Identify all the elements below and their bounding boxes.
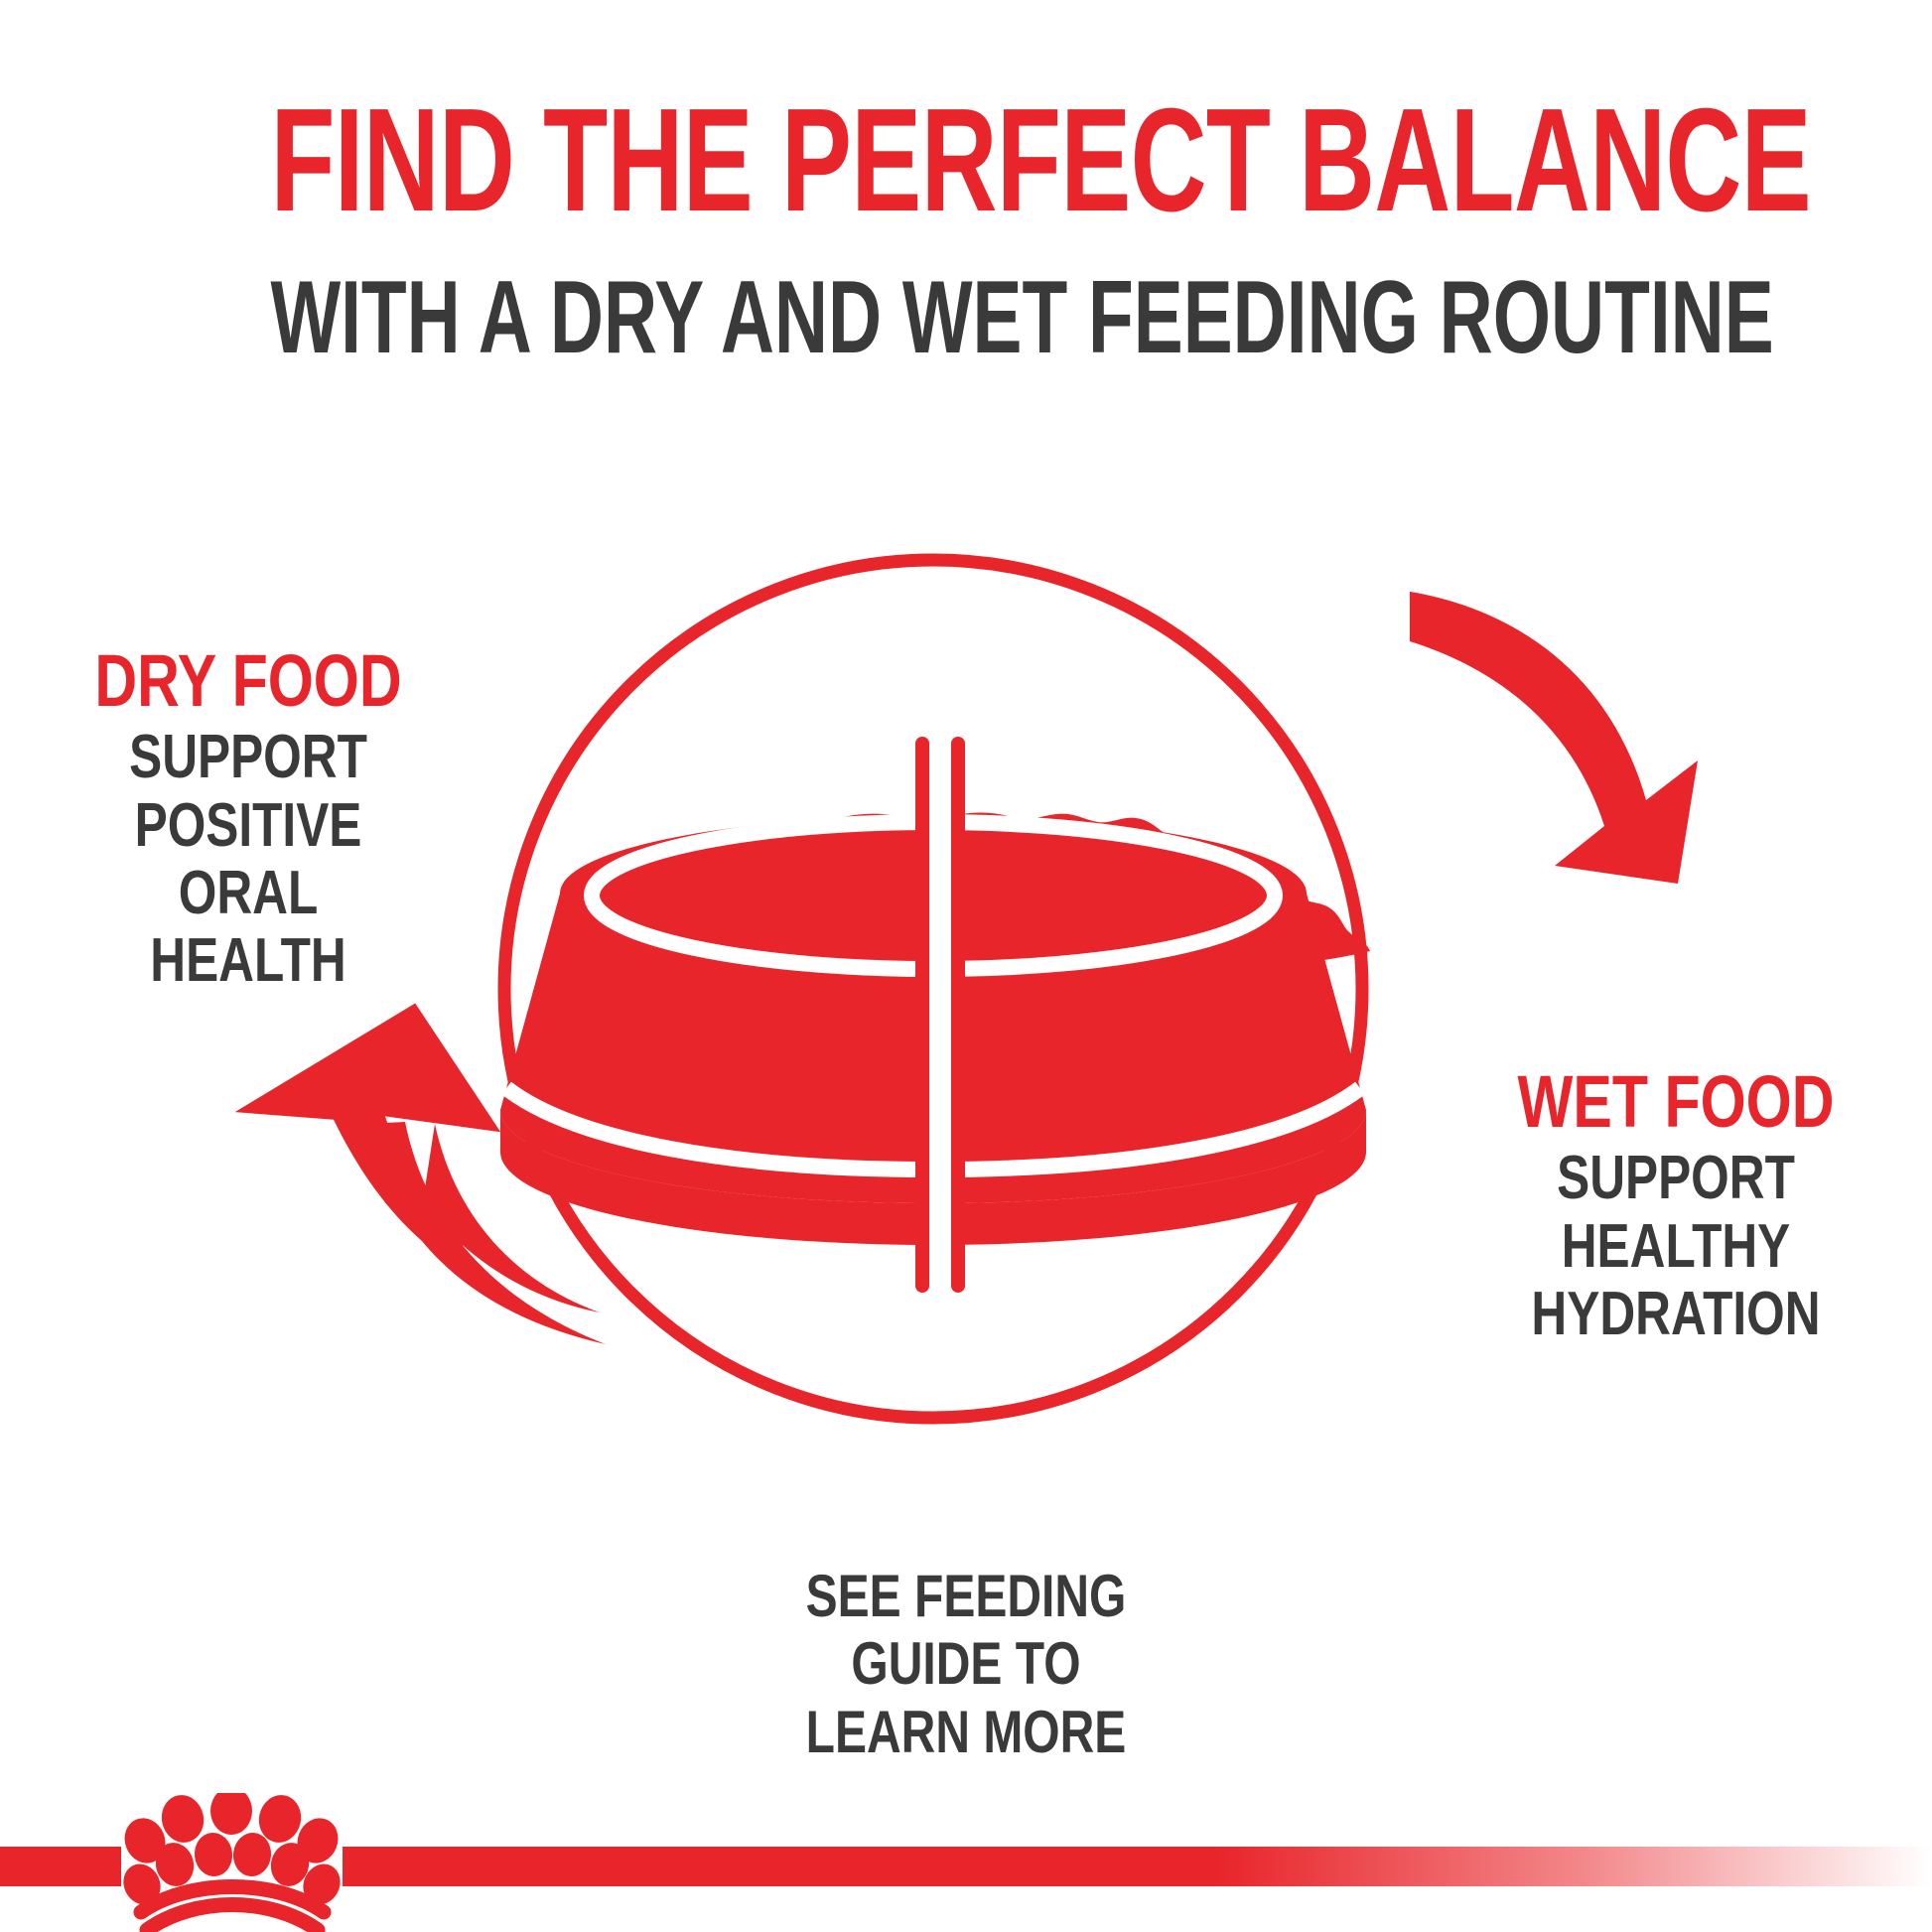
cta-line-1: SEE FEEDING (696, 1563, 1236, 1630)
curved-arrow-down-right-icon (1410, 592, 1698, 884)
footer-brand-bar (0, 1793, 1932, 1932)
feeding-balance-illustration (179, 467, 1807, 1469)
cta-line-3: LEARN MORE (696, 1699, 1236, 1766)
footer-rule-right (343, 1847, 1932, 1886)
page-subtitle: WITH A DRY AND WET FEEDING ROUTINE (270, 266, 1661, 369)
footer-rule-left (0, 1847, 121, 1886)
cta-text[interactable]: SEE FEEDING GUIDE TO LEARN MORE (696, 1563, 1236, 1766)
royal-canin-crown-paw-logo-icon (117, 1793, 347, 1930)
bowl-divider-icon (915, 715, 965, 1311)
poster-canvas: FIND THE PERFECT BALANCE WITH A DRY AND … (0, 0, 1932, 1932)
page-title: FIND THE PERFECT BALANCE (270, 87, 1661, 234)
cta-line-2: GUIDE TO (696, 1630, 1236, 1698)
